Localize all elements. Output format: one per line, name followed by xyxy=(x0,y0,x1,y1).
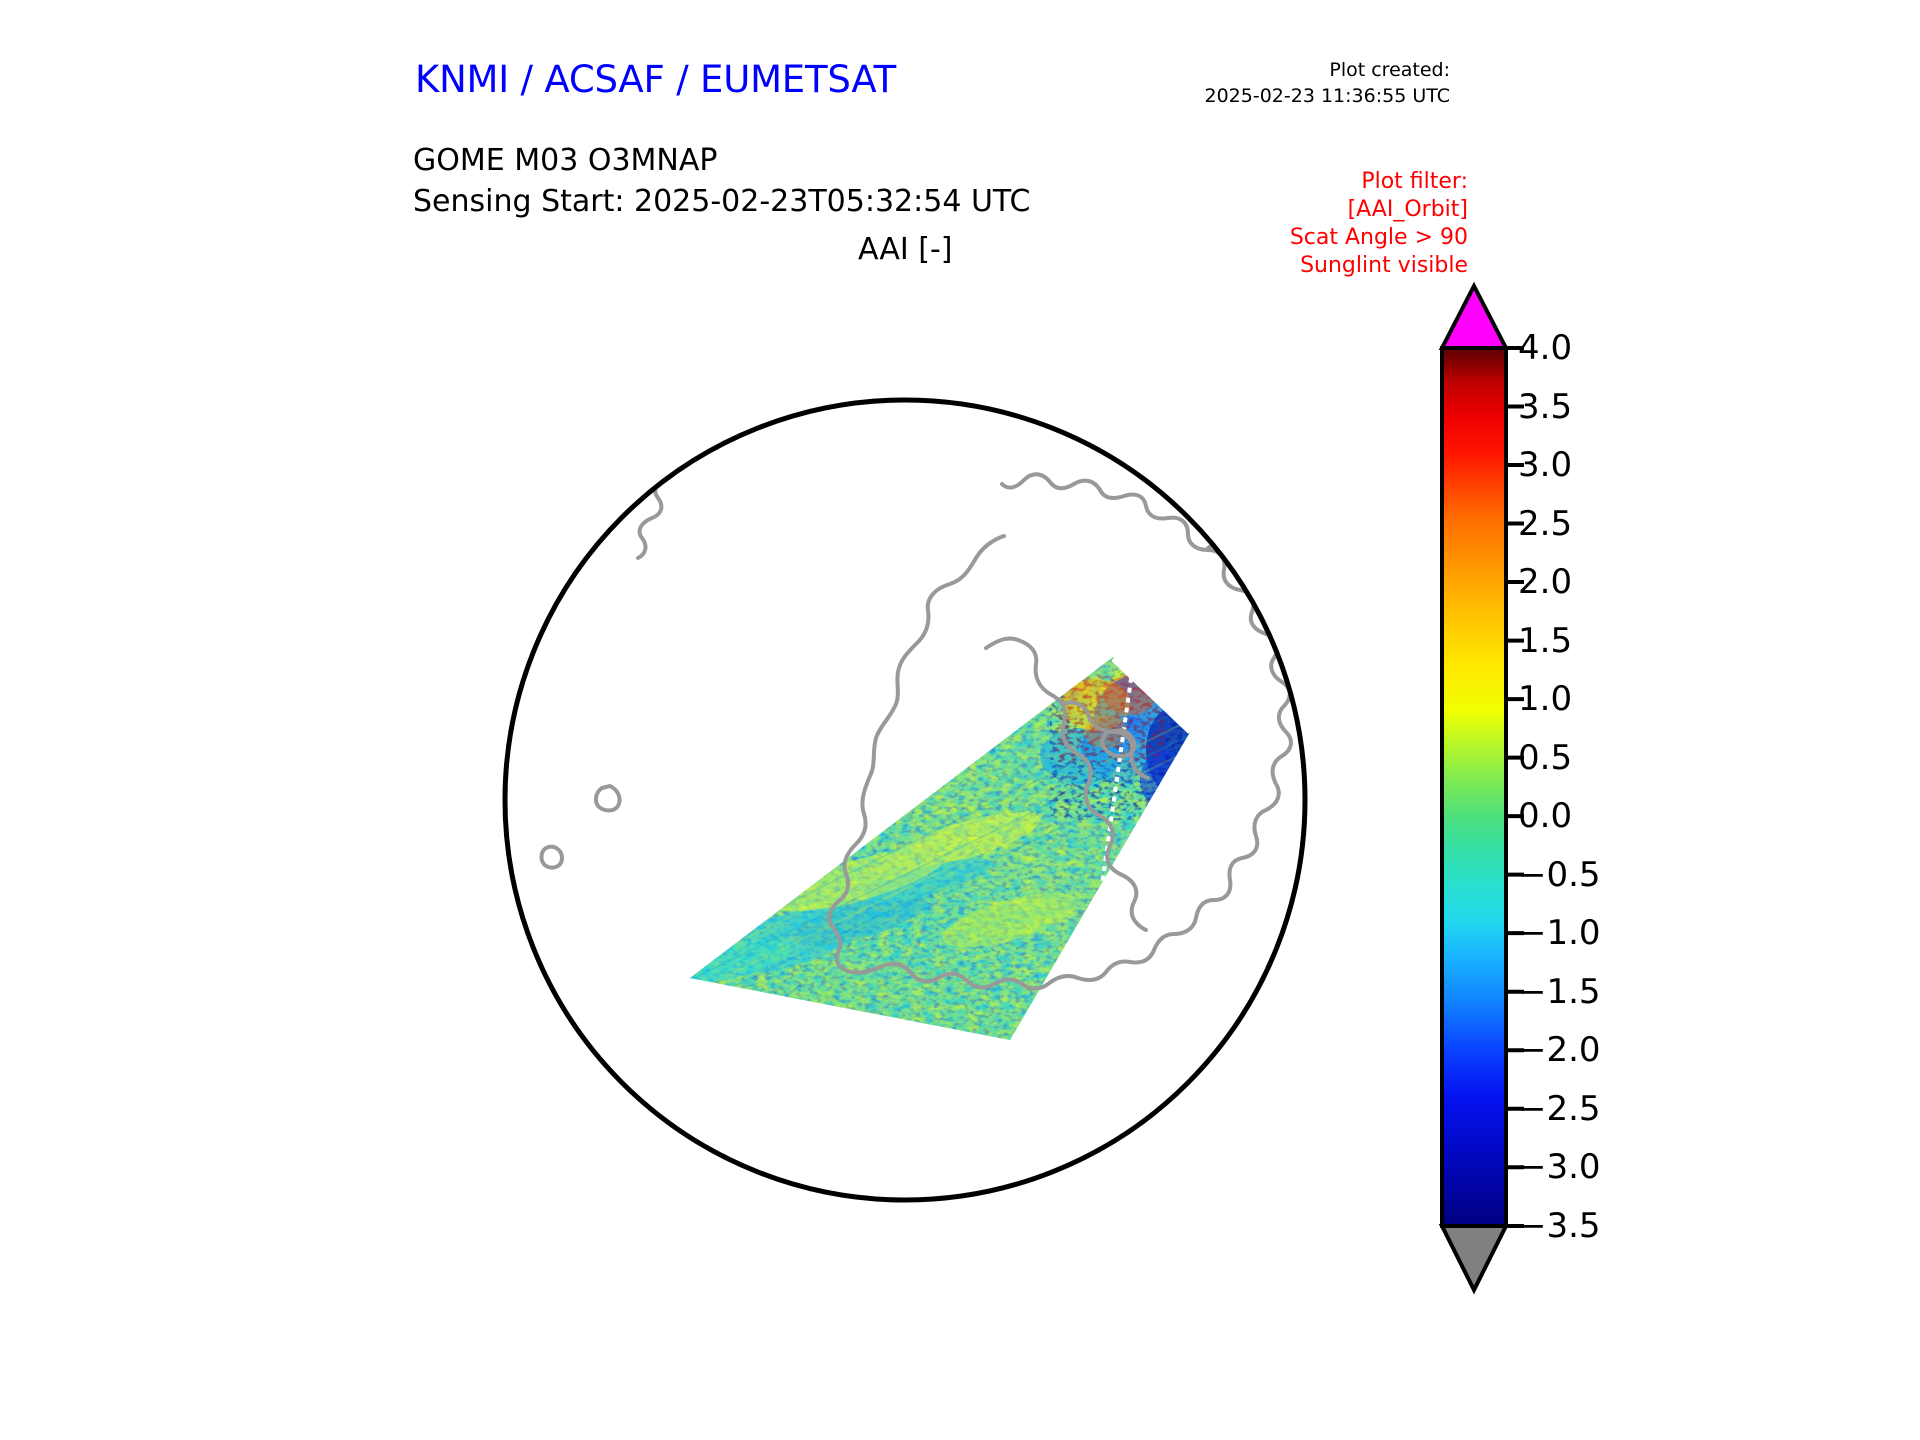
plot-filter-name: [AAI_Orbit] xyxy=(1290,196,1468,224)
plot-filter-condition: Scat Angle > 90 xyxy=(1290,224,1468,252)
colorbar-tick-label: −2.5 xyxy=(1518,1089,1601,1129)
plot-created-block: Plot created: 2025-02-23 11:36:55 UTC xyxy=(1205,58,1451,109)
map-plot-area[interactable] xyxy=(390,280,1420,1320)
plot-filter-note: Sunglint visible xyxy=(1290,252,1468,280)
colorbar-tick-label: 2.0 xyxy=(1518,562,1572,602)
dataset-info-block: GOME M03 O3MNAP Sensing Start: 2025-02-2… xyxy=(413,140,1030,222)
colorbar-tick-label: −1.5 xyxy=(1518,972,1601,1012)
colorbar-tick-label: 3.0 xyxy=(1518,445,1572,485)
plot-filter-label: Plot filter: xyxy=(1290,168,1468,196)
colorbar-tick-label: 0.0 xyxy=(1518,796,1572,836)
colorbar-tick-label: 2.5 xyxy=(1518,504,1572,544)
colorbar-tick-label: 1.5 xyxy=(1518,621,1572,661)
colorbar-tick-label: −2.0 xyxy=(1518,1030,1601,1070)
colorbar-tick-labels: 4.0 3.5 3.0 2.5 2.0 1.5 1.0 0.5 0.0 −0.5… xyxy=(1518,286,1658,1314)
brand-title: KNMI / ACSAF / EUMETSAT xyxy=(415,58,896,101)
plot-created-timestamp: 2025-02-23 11:36:55 UTC xyxy=(1205,84,1451,110)
colorbar-tick-label: −3.0 xyxy=(1518,1147,1601,1187)
page-title: AAI [-] xyxy=(858,232,953,267)
colorbar-tick-label: −3.5 xyxy=(1518,1206,1601,1246)
polar-stereographic-map[interactable] xyxy=(390,280,1420,1320)
colorbar-tick-label: 1.0 xyxy=(1518,679,1572,719)
colorbar-gradient xyxy=(1442,348,1506,1226)
colorbar[interactable] xyxy=(1440,286,1510,1314)
map-background xyxy=(390,280,1420,1320)
plot-filter-block: Plot filter: [AAI_Orbit] Scat Angle > 90… xyxy=(1290,168,1468,281)
colorbar-tick-label: −0.5 xyxy=(1518,855,1601,895)
colorbar-svg[interactable] xyxy=(1440,286,1510,1314)
colorbar-tick-label: 4.0 xyxy=(1518,328,1572,368)
plot-created-label: Plot created: xyxy=(1205,58,1451,84)
colorbar-under-arrow xyxy=(1442,1226,1506,1290)
colorbar-over-arrow xyxy=(1442,286,1506,348)
dataset-name: GOME M03 O3MNAP xyxy=(413,140,1030,181)
colorbar-tick-label: 3.5 xyxy=(1518,387,1572,427)
colorbar-tick-label: −1.0 xyxy=(1518,913,1601,953)
colorbar-tick-label: 0.5 xyxy=(1518,738,1572,778)
sensing-start: Sensing Start: 2025-02-23T05:32:54 UTC xyxy=(413,181,1030,222)
